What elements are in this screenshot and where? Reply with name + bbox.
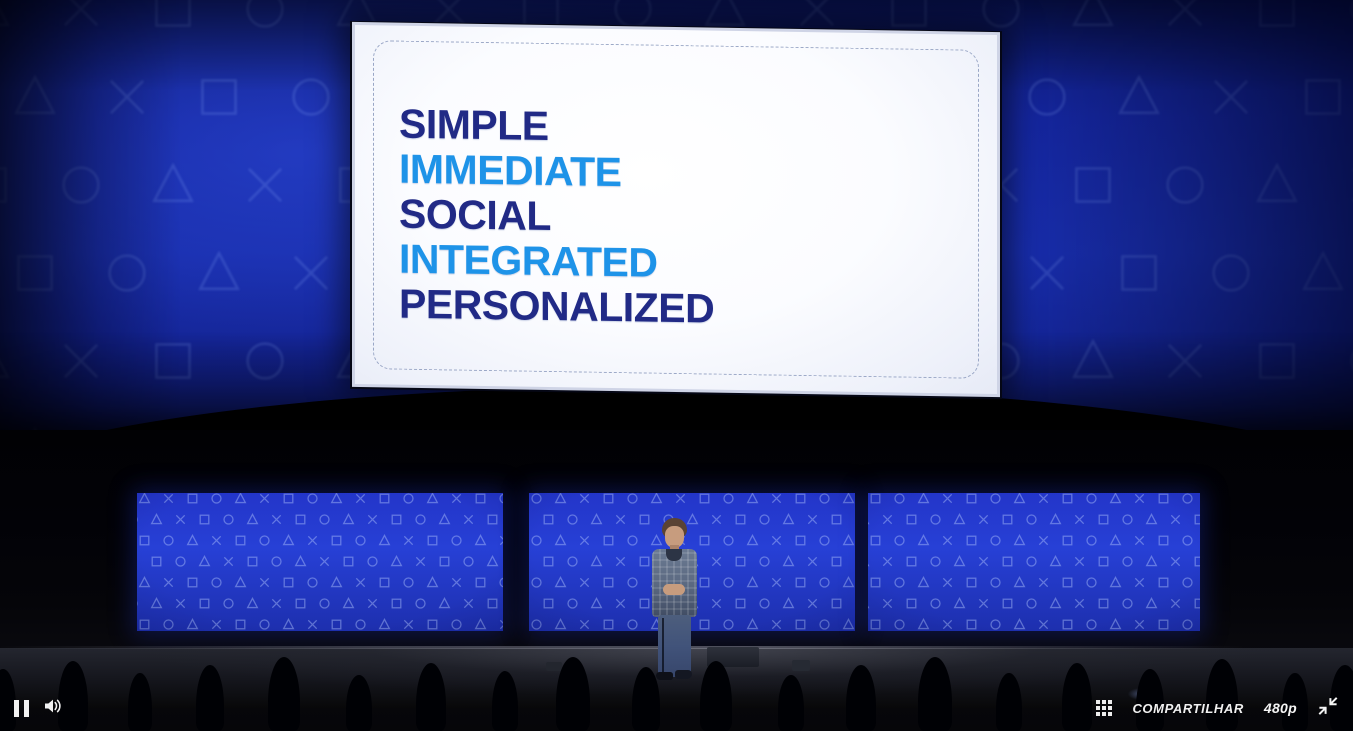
led-panel-right-vignette	[868, 493, 1200, 631]
audience-head	[846, 665, 876, 731]
audience-head	[632, 667, 660, 731]
slide-line-immediate: IMMEDIATE	[399, 147, 714, 197]
volume-button[interactable]	[43, 697, 63, 720]
presenter-hands	[663, 584, 685, 595]
grid-icon	[1096, 700, 1112, 716]
slide-line-simple: SIMPLE	[399, 102, 714, 152]
audience-silhouettes	[0, 641, 1353, 731]
slide-line-social: SOCIAL	[399, 192, 714, 242]
audience-head	[268, 657, 300, 731]
exit-fullscreen-icon	[1317, 695, 1339, 722]
audience-head	[416, 663, 446, 731]
share-button[interactable]: COMPARTILHAR	[1132, 701, 1243, 716]
audience-head	[556, 657, 590, 731]
quality-button[interactable]: 480p	[1264, 700, 1297, 716]
presenter-collar	[666, 549, 682, 561]
audience-head	[996, 673, 1022, 731]
video-frame: SIMPLE IMMEDIATE SOCIAL INTEGRATED PERSO…	[0, 0, 1353, 731]
audience-head	[492, 671, 518, 731]
slide-line-integrated: INTEGRATED	[399, 237, 714, 287]
audience-head	[1062, 663, 1092, 731]
projection-screen: SIMPLE IMMEDIATE SOCIAL INTEGRATED PERSO…	[352, 22, 1000, 397]
slide-line-personalized: PERSONALIZED	[399, 282, 714, 332]
led-panel-right	[868, 493, 1200, 631]
audience-head	[1206, 659, 1238, 731]
pause-icon	[14, 700, 29, 717]
audience-head	[700, 661, 732, 731]
led-panel-left	[137, 493, 503, 631]
audience-head	[196, 665, 224, 731]
audience-head	[128, 673, 152, 731]
pause-button[interactable]	[14, 700, 29, 717]
audience-head	[918, 657, 952, 731]
exit-fullscreen-button[interactable]	[1317, 695, 1339, 722]
slide-surface: SIMPLE IMMEDIATE SOCIAL INTEGRATED PERSO…	[355, 25, 997, 394]
grid-button[interactable]	[1096, 700, 1112, 716]
audience-head	[778, 675, 804, 731]
led-panel-left-vignette	[137, 493, 503, 631]
volume-icon	[43, 697, 63, 720]
audience-head	[346, 675, 372, 731]
slide-text-block: SIMPLE IMMEDIATE SOCIAL INTEGRATED PERSO…	[399, 102, 714, 332]
